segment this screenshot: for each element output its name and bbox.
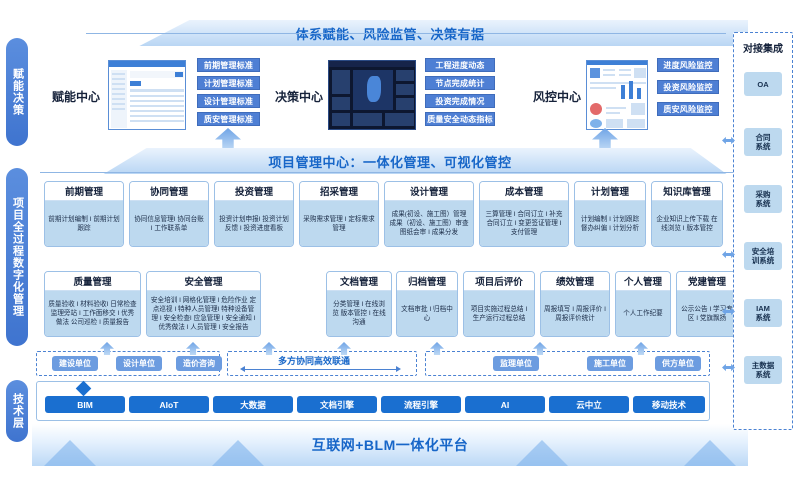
- tech-chip-cloud[interactable]: 云中立: [549, 396, 629, 413]
- participant-supervision-unit[interactable]: 监理单位: [493, 356, 539, 371]
- module-items: 投资计划申报I 投资计划反馈 I 投资进度看板: [215, 201, 293, 246]
- tech-chip-bigdata[interactable]: 大数据: [213, 396, 293, 413]
- module-title: 个人管理: [616, 272, 670, 291]
- tech-chip-mobile[interactable]: 移动技术: [633, 396, 705, 413]
- participant-supplier-unit[interactable]: 供方单位: [655, 356, 701, 371]
- mountain-icon-right2: [516, 440, 568, 466]
- center-label-empower: 赋能中心: [52, 88, 100, 105]
- chip-empower-2: 计划管理标准: [197, 76, 260, 90]
- module-items: 采购需求管理 I 定标需求管理: [300, 201, 378, 246]
- module-card-party-building[interactable]: 党建管理 公示公告 I 学习专区 I 党旗飘扬: [676, 271, 738, 337]
- rail-label-tech-layer: 技术层: [6, 380, 28, 442]
- module-card-plan[interactable]: 计划管理 计划编制 I 计划跟踪 督办纠偏 I 计划分析: [574, 181, 646, 247]
- system-contract[interactable]: 合同系统: [744, 128, 782, 156]
- banner-bottom-text: 互联网+BLM一体化平台: [312, 435, 469, 455]
- module-items: 周报填写 I 周报评价 I 周报评价统计: [541, 291, 609, 336]
- module-title: 绩效管理: [541, 272, 609, 291]
- module-items: 分类管理 I 在线浏览 版本管控 I 在线沟通: [327, 291, 391, 336]
- module-card-personal[interactable]: 个人管理 个人工作纪要: [615, 271, 671, 337]
- module-items: 安全培训 I 网格化管理 I 危险作业 定点巡视 I 特种人员管理I 特种设备管…: [147, 291, 260, 336]
- up-arrow-empower: [215, 128, 241, 150]
- module-items: 企业知识上传下载 在线浏览 I 版本管控: [652, 201, 722, 246]
- module-card-procurement[interactable]: 招采管理 采购需求管理 I 定标需求管理: [299, 181, 379, 247]
- rail-label-full-process-mgmt: 项目全过程数字化管理: [6, 168, 28, 346]
- system-oa[interactable]: OA: [744, 72, 782, 96]
- module-items: 成果(初设、施工图）管理 成果（初设、施工图）审查 图纸会审 I 成果分发: [385, 201, 473, 246]
- mountain-icon-left: [44, 440, 96, 466]
- participant-construction-unit[interactable]: 建设单位: [52, 356, 98, 371]
- module-items: 项目实施过程总结 I 生产运行过程总结: [464, 291, 534, 336]
- module-card-archive[interactable]: 归档管理 文档审批 I 归档中心: [396, 271, 458, 337]
- module-items: 文档审批 I 归档中心: [397, 291, 457, 336]
- module-title: 协同管理: [130, 182, 208, 201]
- chip-risk-3: 质安风险监控: [657, 102, 719, 116]
- connector-line: [244, 369, 396, 370]
- module-title: 投资管理: [215, 182, 293, 201]
- module-items: 质量验收 I 材料验收I 日常检查 监理旁站 I 工作面移交 I 优秀做法 公司…: [45, 291, 140, 336]
- system-iam-label: IAM系统: [756, 304, 771, 322]
- system-safety-training-label: 安全培训系统: [752, 247, 775, 265]
- tech-chip-flow-engine[interactable]: 流程引擎: [381, 396, 461, 413]
- chip-risk-2: 投资风险监控: [657, 80, 719, 94]
- system-procurement-label: 采购系统: [756, 190, 771, 208]
- connector-arrow-right: [396, 366, 401, 372]
- module-card-quality[interactable]: 质量管理 质量验收 I 材料验收I 日常检查 监理旁站 I 工作面移交 I 优秀…: [44, 271, 141, 337]
- module-title: 知识库管理: [652, 182, 722, 201]
- module-title: 文档管理: [327, 272, 391, 291]
- module-title: 计划管理: [575, 182, 645, 201]
- module-title: 前期管理: [45, 182, 123, 201]
- module-card-knowledge[interactable]: 知识库管理 企业知识上传下载 在线浏览 I 版本管控: [651, 181, 723, 247]
- participant-cost-consulting[interactable]: 造价咨询: [176, 356, 222, 371]
- mountain-icon-left2: [212, 440, 264, 466]
- tech-chip-ai[interactable]: AI: [465, 396, 545, 413]
- system-master-data-label: 主数据系统: [752, 361, 775, 379]
- module-card-post-evaluation[interactable]: 项目后评价 项目实施过程总结 I 生产运行过程总结: [463, 271, 535, 337]
- multi-party-label: 多方协同高效联通: [278, 354, 350, 367]
- module-title: 成本管理: [480, 182, 568, 201]
- module-card-preliminary[interactable]: 前期管理 前期计划编制 I 前期计划跟踪: [44, 181, 124, 247]
- module-card-collaboration[interactable]: 协同管理 协同信息管理I 协同台账 I 工作联系单: [129, 181, 209, 247]
- chip-decision-2: 节点完成统计: [425, 76, 495, 90]
- module-card-safety[interactable]: 安全管理 安全培训 I 网格化管理 I 危险作业 定点巡视 I 特种人员管理I …: [146, 271, 261, 337]
- participant-design-unit[interactable]: 设计单位: [116, 356, 162, 371]
- chip-decision-4: 质量安全动态指标: [425, 112, 495, 126]
- module-card-investment[interactable]: 投资管理 投资计划申报I 投资计划反馈 I 投资进度看板: [214, 181, 294, 247]
- chip-empower-1: 前期管理标准: [197, 58, 260, 72]
- chip-decision-1: 工程进度动态: [425, 58, 495, 72]
- screenshot-risk-center: [586, 60, 648, 130]
- module-items: 前期计划编制 I 前期计划跟踪: [45, 201, 123, 246]
- system-safety-training[interactable]: 安全培训系统: [744, 242, 782, 270]
- module-title: 质量管理: [45, 272, 140, 291]
- tech-chip-doc-engine[interactable]: 文档引擎: [297, 396, 377, 413]
- banner-middle: 项目管理中心：一体化管理、可视化管控: [32, 148, 748, 174]
- chip-decision-3: 投资完成情况: [425, 94, 495, 108]
- system-procurement[interactable]: 采购系统: [744, 185, 782, 213]
- module-title: 安全管理: [147, 272, 260, 291]
- integration-title: 对接集成: [737, 40, 789, 55]
- module-card-design[interactable]: 设计管理 成果(初设、施工图）管理 成果（初设、施工图）审查 图纸会审 I 成果…: [384, 181, 474, 247]
- screenshot-decision-center: [328, 60, 416, 130]
- module-title: 归档管理: [397, 272, 457, 291]
- module-card-performance[interactable]: 绩效管理 周报填写 I 周报评价 I 周报评价统计: [540, 271, 610, 337]
- rail-label-empower-decision: 赋能决策: [6, 38, 28, 146]
- chip-empower-3: 设计管理标准: [197, 94, 260, 108]
- up-arrow-risk: [592, 128, 618, 150]
- banner-middle-text: 项目管理中心：一体化管理、可视化管控: [268, 152, 511, 171]
- module-items: 三算管理 I 合同订立 I 补充合同订立 I 变更签证管理 I 支付管理: [480, 201, 568, 246]
- screenshot-empower-center: [108, 60, 186, 130]
- system-contract-label: 合同系统: [756, 133, 771, 151]
- architecture-diagram: 赋能决策 项目全过程数字化管理 技术层 体系赋能、风险监管、决策有据 赋能中心 …: [0, 0, 800, 480]
- mountain-icon-right: [684, 440, 736, 466]
- system-iam[interactable]: IAM系统: [744, 299, 782, 327]
- tech-chip-bim[interactable]: BIM: [45, 396, 125, 413]
- module-items: 公示公告 I 学习专区 I 党旗飘扬: [677, 291, 737, 336]
- module-title: 党建管理: [677, 272, 737, 291]
- module-items: 个人工作纪要: [616, 291, 670, 336]
- chip-empower-4: 质安管理标准: [197, 112, 260, 126]
- module-title: 招采管理: [300, 182, 378, 201]
- center-label-risk: 风控中心: [533, 88, 581, 105]
- module-card-document[interactable]: 文档管理 分类管理 I 在线浏览 版本管控 I 在线沟通: [326, 271, 392, 337]
- center-label-decision: 决策中心: [275, 88, 323, 105]
- module-title: 设计管理: [385, 182, 473, 201]
- module-items: 计划编制 I 计划跟踪 督办纠偏 I 计划分析: [575, 201, 645, 246]
- module-card-cost[interactable]: 成本管理 三算管理 I 合同订立 I 补充合同订立 I 变更签证管理 I 支付管…: [479, 181, 569, 247]
- banner-top-rule: [86, 33, 726, 34]
- tech-chip-aiot[interactable]: AIoT: [129, 396, 209, 413]
- system-master-data[interactable]: 主数据系统: [744, 356, 782, 384]
- chip-risk-1: 进度风险监控: [657, 58, 719, 72]
- module-items: 协同信息管理I 协同台账 I 工作联系单: [130, 201, 208, 246]
- module-title: 项目后评价: [464, 272, 534, 291]
- banner-bottom: 互联网+BLM一体化平台: [32, 424, 748, 466]
- participant-construction-contractor[interactable]: 施工单位: [587, 356, 633, 371]
- connector-arrow-left: [240, 366, 245, 372]
- banner-middle-rule: [40, 172, 740, 173]
